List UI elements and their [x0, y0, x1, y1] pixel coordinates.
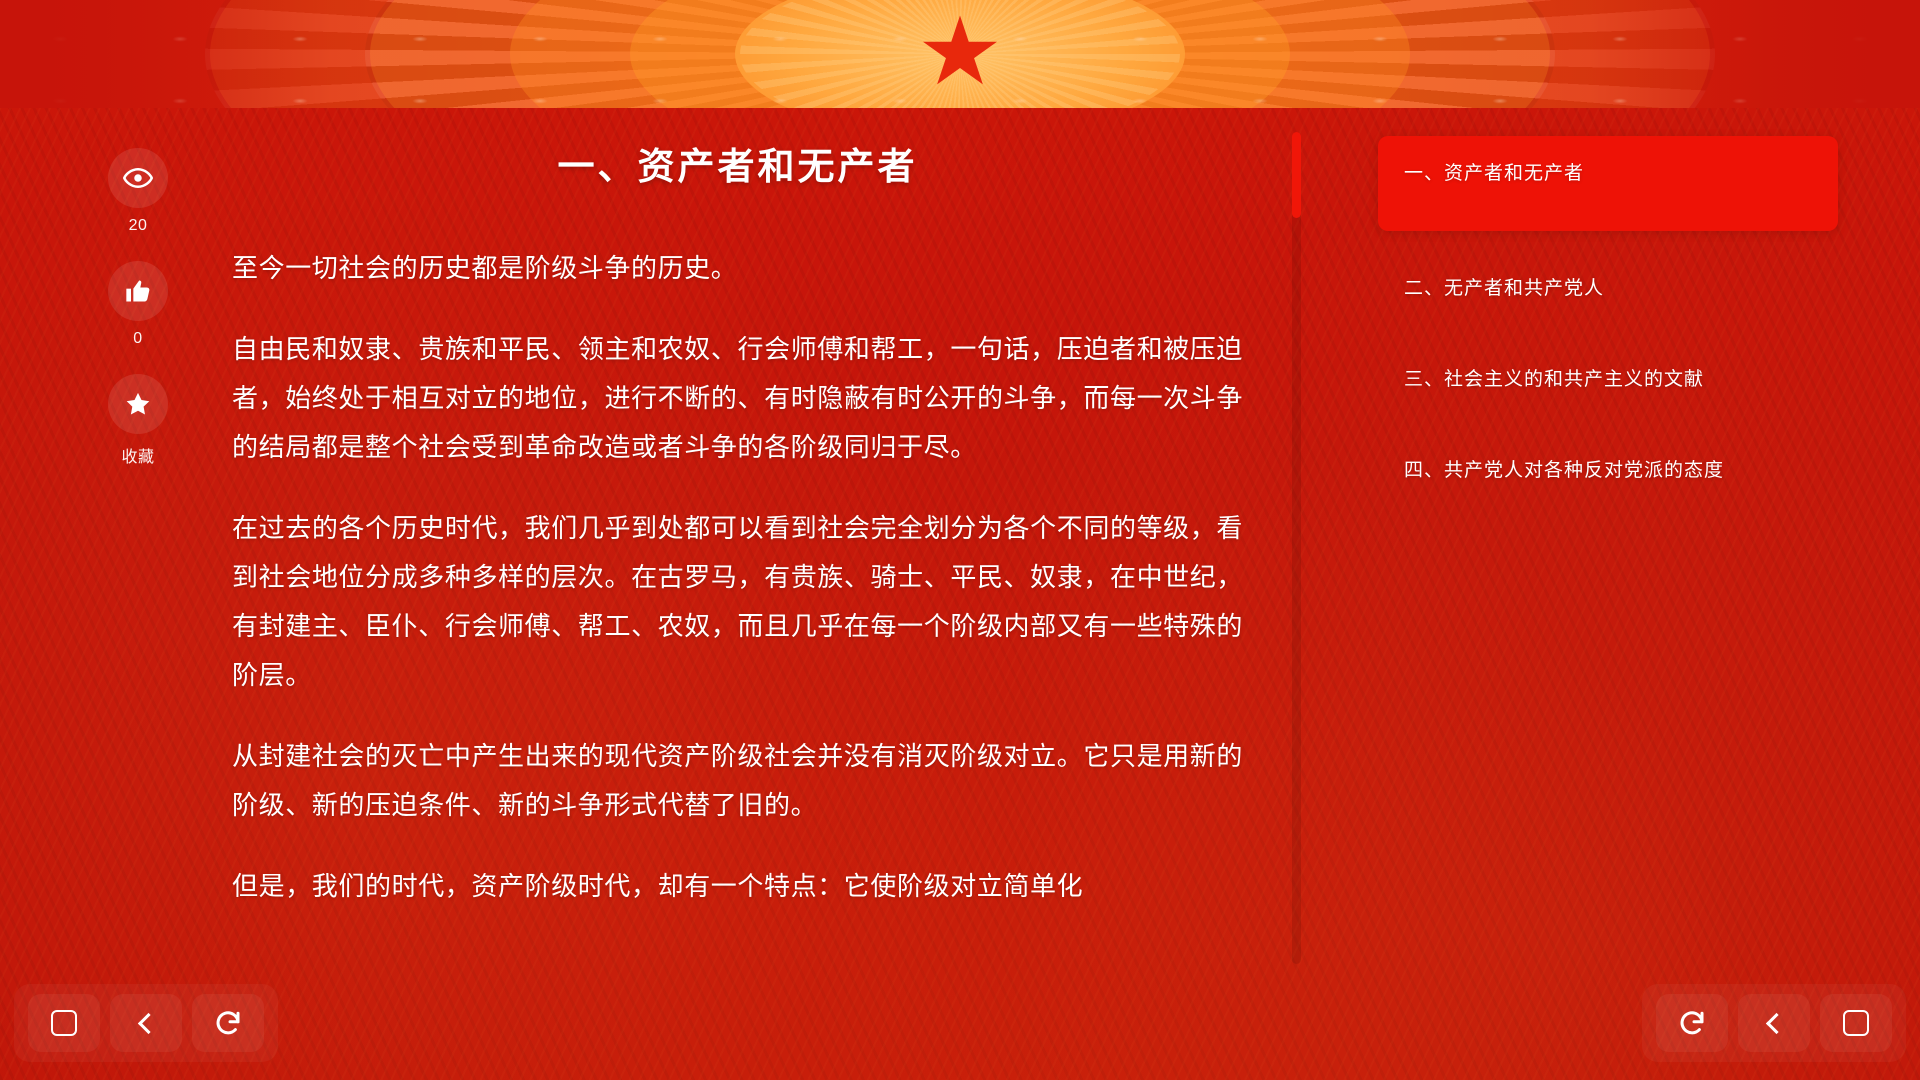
article-paragraph: 从封建社会的灭亡中产生出来的现代资产阶级社会并没有消灭阶级对立。它只是用新的阶级…	[232, 732, 1243, 830]
navbar-left	[14, 984, 278, 1062]
refresh-button[interactable]	[192, 994, 264, 1052]
back-button[interactable]	[1738, 994, 1810, 1052]
article-paragraph: 至今一切社会的历史都是阶级斗争的历史。	[232, 244, 1243, 293]
header-banner	[0, 0, 1920, 108]
refresh-icon	[1677, 1008, 1707, 1038]
refresh-icon	[213, 1008, 243, 1038]
favorite-item[interactable]: 收藏	[108, 374, 168, 467]
navbar-right	[1642, 984, 1906, 1062]
toc-item-4[interactable]: 四、共产党人对各种反对党派的态度	[1378, 433, 1838, 504]
favorite-button[interactable]	[108, 374, 168, 434]
banner-fade-left	[0, 0, 330, 108]
eye-icon	[123, 163, 153, 193]
like-count-label: 0	[133, 330, 142, 348]
toc-item-2[interactable]: 二、无产者和共产党人	[1378, 251, 1838, 322]
favorite-label: 收藏	[121, 443, 154, 467]
article-paragraph: 在过去的各个历史时代，我们几乎到处都可以看到社会完全划分为各个不同的等级，看到社…	[232, 504, 1243, 700]
article-paragraph: 自由民和奴隶、贵族和平民、领主和农奴、行会师傅和帮工，一句话，压迫者和被压迫者，…	[232, 325, 1243, 472]
action-rail: 20 0 收藏	[90, 148, 186, 467]
chevron-left-icon	[138, 1012, 159, 1033]
recents-button[interactable]	[1820, 994, 1892, 1052]
refresh-button[interactable]	[1656, 994, 1728, 1052]
square-icon	[51, 1010, 77, 1036]
article-title: 一、资产者和无产者	[210, 136, 1265, 190]
article-scrollbar[interactable]	[1292, 132, 1301, 964]
article-content: 一、资产者和无产者 至今一切社会的历史都是阶级斗争的历史。 自由民和奴隶、贵族和…	[210, 124, 1265, 964]
toc-item-1[interactable]: 一、资产者和无产者	[1378, 136, 1838, 231]
article-paragraph: 但是，我们的时代，资产阶级时代，却有一个特点：它使阶级对立简单化	[232, 862, 1243, 911]
banner-fade-right	[1590, 0, 1920, 108]
view-count-button[interactable]	[108, 148, 168, 208]
table-of-contents: 一、资产者和无产者 二、无产者和共产党人 三、社会主义的和共产主义的文献 四、共…	[1378, 136, 1838, 524]
view-count-label: 20	[129, 217, 148, 235]
back-button[interactable]	[110, 994, 182, 1052]
like-button[interactable]	[108, 261, 168, 321]
square-icon	[1843, 1010, 1869, 1036]
thumbs-up-icon	[124, 277, 152, 305]
toc-item-3[interactable]: 三、社会主义的和共产主义的文献	[1378, 342, 1838, 413]
view-count-item[interactable]: 20	[108, 148, 168, 235]
like-item[interactable]: 0	[108, 261, 168, 348]
star-icon	[124, 390, 152, 418]
chevron-left-icon	[1766, 1012, 1787, 1033]
recents-button[interactable]	[28, 994, 100, 1052]
scrollbar-thumb[interactable]	[1292, 132, 1301, 218]
